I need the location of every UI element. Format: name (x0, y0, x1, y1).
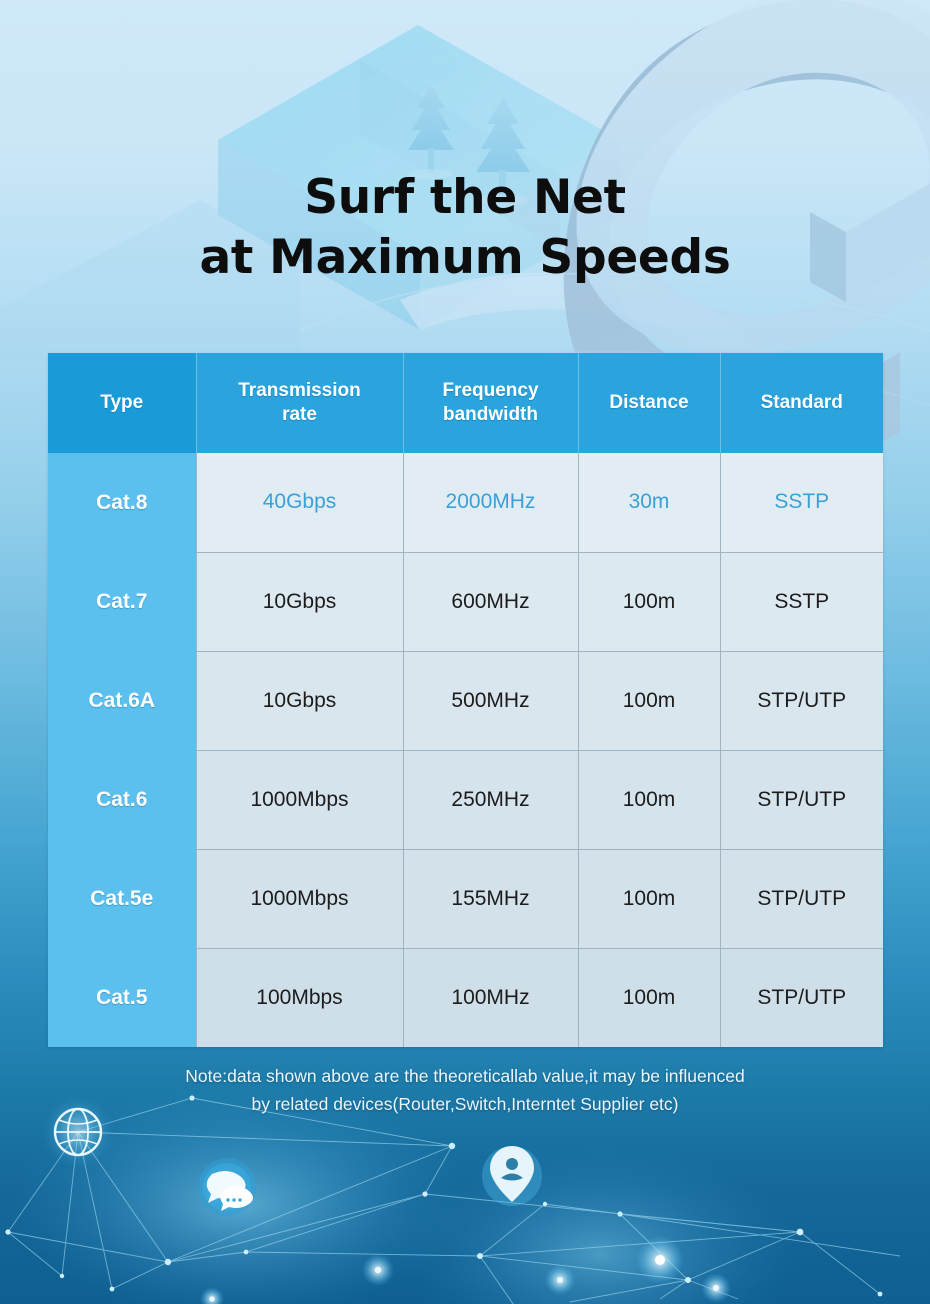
table-row: Cat.6 1000Mbps 250MHz 100m STP/UTP (48, 750, 883, 849)
table-row: Cat.7 10Gbps 600MHz 100m SSTP (48, 552, 883, 651)
column-header-standard: Standard (720, 353, 883, 453)
cell-rate: 1000Mbps (196, 750, 403, 849)
column-header-rate-line1: Transmission (238, 380, 361, 401)
headline: Surf the Net at Maximum Speeds (0, 168, 930, 288)
cell-frequency: 100MHz (403, 948, 578, 1047)
column-header-frequency-line2: bandwidth (443, 404, 538, 425)
cell-standard: STP/UTP (720, 948, 883, 1047)
cell-rate: 40Gbps (196, 453, 403, 552)
table-header-row: Type Transmission rate Frequency bandwid… (48, 353, 883, 453)
cell-standard: STP/UTP (720, 849, 883, 948)
cell-frequency: 600MHz (403, 552, 578, 651)
note-line-2: by related devices(Router,Switch,Internt… (0, 1090, 930, 1118)
cell-rate: 1000Mbps (196, 849, 403, 948)
column-header-type: Type (48, 353, 196, 453)
infographic-page: Surf the Net at Maximum Speeds Type Tran… (0, 0, 930, 1304)
column-header-rate-line2: rate (282, 404, 317, 425)
cell-distance: 100m (578, 750, 720, 849)
cable-spec-table: Type Transmission rate Frequency bandwid… (48, 353, 883, 1047)
cell-type: Cat.6A (48, 651, 196, 750)
column-header-frequency-line1: Frequency (442, 380, 538, 401)
cell-frequency: 250MHz (403, 750, 578, 849)
table-row: Cat.6A 10Gbps 500MHz 100m STP/UTP (48, 651, 883, 750)
cell-distance: 100m (578, 651, 720, 750)
cell-distance: 30m (578, 453, 720, 552)
chat-bubble-icon (198, 1158, 256, 1216)
cell-distance: 100m (578, 552, 720, 651)
cell-standard: SSTP (720, 453, 883, 552)
cell-frequency: 155MHz (403, 849, 578, 948)
table-body: Cat.8 40Gbps 2000MHz 30m SSTP Cat.7 10Gb… (48, 453, 883, 1047)
column-header-frequency: Frequency bandwidth (403, 353, 578, 453)
cell-rate: 10Gbps (196, 552, 403, 651)
cell-type: Cat.8 (48, 453, 196, 552)
headline-line-1: Surf the Net (0, 168, 930, 228)
table-head: Type Transmission rate Frequency bandwid… (48, 353, 883, 453)
cell-standard: STP/UTP (720, 750, 883, 849)
cell-type: Cat.5e (48, 849, 196, 948)
disclaimer-note: Note:data shown above are the theoretica… (0, 1062, 930, 1118)
column-header-distance: Distance (578, 353, 720, 453)
headline-line-2: at Maximum Speeds (0, 228, 930, 288)
cell-standard: SSTP (720, 552, 883, 651)
cell-distance: 100m (578, 948, 720, 1047)
tree-icon-left (408, 85, 454, 179)
cell-rate: 100Mbps (196, 948, 403, 1047)
cell-frequency: 2000MHz (403, 453, 578, 552)
cell-frequency: 500MHz (403, 651, 578, 750)
cell-type: Cat.7 (48, 552, 196, 651)
column-header-rate: Transmission rate (196, 353, 403, 453)
table-row: Cat.8 40Gbps 2000MHz 30m SSTP (48, 453, 883, 552)
table-row: Cat.5 100Mbps 100MHz 100m STP/UTP (48, 948, 883, 1047)
cell-type: Cat.6 (48, 750, 196, 849)
table-row: Cat.5e 1000Mbps 155MHz 100m STP/UTP (48, 849, 883, 948)
note-line-1: Note:data shown above are the theoretica… (0, 1062, 930, 1090)
cell-rate: 10Gbps (196, 651, 403, 750)
cell-standard: STP/UTP (720, 651, 883, 750)
cell-type: Cat.5 (48, 948, 196, 1047)
user-pin-icon (482, 1146, 542, 1206)
cell-distance: 100m (578, 849, 720, 948)
